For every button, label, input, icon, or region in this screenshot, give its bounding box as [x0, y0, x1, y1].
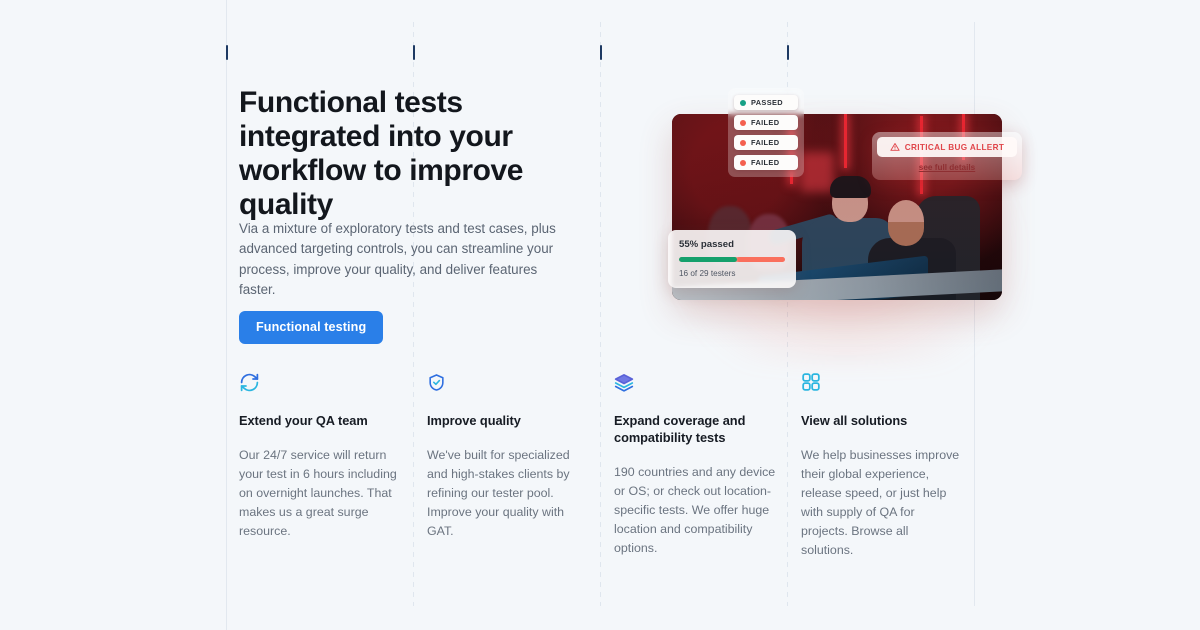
feature-title: View all solutions [801, 412, 964, 429]
grid-squares-icon [801, 372, 964, 398]
status-dot-icon [740, 120, 746, 126]
feature-title: Improve quality [427, 412, 590, 429]
column-rail-left [226, 0, 227, 630]
warning-triangle-icon [890, 142, 900, 152]
test-status-list: PASSED FAILED FAILED FAILED [728, 88, 804, 177]
see-full-details-link[interactable]: see full details [877, 157, 1017, 175]
status-label: FAILED [751, 118, 779, 127]
landing-page-section: Functional tests integrated into your wo… [0, 0, 1200, 630]
critical-bug-alert-card: CRITICAL BUG ALLERT see full details [872, 132, 1022, 180]
pass-rate-card: 55% passed 16 of 29 testers [668, 230, 796, 288]
status-dot-icon [740, 100, 746, 106]
feature-accent-tick [787, 45, 789, 60]
pass-rate-title: 55% passed [679, 239, 785, 250]
feature-column-improve-quality[interactable]: Improve quality We've built for speciali… [427, 372, 590, 541]
feature-accent-tick [226, 45, 228, 60]
hero-subheading: Via a mixture of exploratory tests and t… [239, 219, 569, 301]
hero-visual: PASSED FAILED FAILED FAILED CRITICAL BUG [660, 70, 1030, 325]
feature-column-expand-coverage[interactable]: Expand coverage and compatibility tests … [614, 372, 777, 558]
status-badge[interactable]: FAILED [734, 135, 798, 150]
feature-accent-tick [413, 45, 415, 60]
status-label: PASSED [751, 98, 783, 107]
feature-body: We've built for specialized and high-sta… [427, 446, 590, 541]
feature-body: We help businesses improve their global … [801, 446, 964, 560]
feature-column-view-all-solutions[interactable]: View all solutions We help businesses im… [801, 372, 964, 560]
page-title: Functional tests integrated into your wo… [239, 86, 579, 222]
column-rail-2 [600, 22, 601, 606]
pass-rate-subtitle: 16 of 29 testers [679, 269, 785, 278]
alert-header: CRITICAL BUG ALLERT [877, 137, 1017, 157]
status-badge[interactable]: PASSED [734, 95, 798, 110]
refresh-sync-icon [239, 372, 402, 398]
feature-title: Expand coverage and compatibility tests [614, 412, 777, 446]
progress-passed-segment [679, 257, 737, 262]
status-label: FAILED [751, 138, 779, 147]
alert-title: CRITICAL BUG ALLERT [905, 143, 1004, 152]
status-label: FAILED [751, 158, 779, 167]
feature-body: Our 24/7 service will return your test i… [239, 446, 402, 541]
status-badge[interactable]: FAILED [734, 115, 798, 130]
functional-testing-button[interactable]: Functional testing [239, 311, 383, 344]
feature-body: 190 countries and any device or OS; or c… [614, 463, 777, 558]
feature-column-extend-qa-team[interactable]: Extend your QA team Our 24/7 service wil… [239, 372, 402, 541]
feature-title: Extend your QA team [239, 412, 402, 429]
layers-stack-icon [614, 372, 777, 398]
pass-rate-progress-bar [679, 257, 785, 262]
status-dot-icon [740, 140, 746, 146]
status-badge[interactable]: FAILED [734, 155, 798, 170]
shield-check-icon [427, 372, 590, 398]
feature-accent-tick [600, 45, 602, 60]
status-dot-icon [740, 160, 746, 166]
progress-failed-segment [737, 257, 785, 262]
